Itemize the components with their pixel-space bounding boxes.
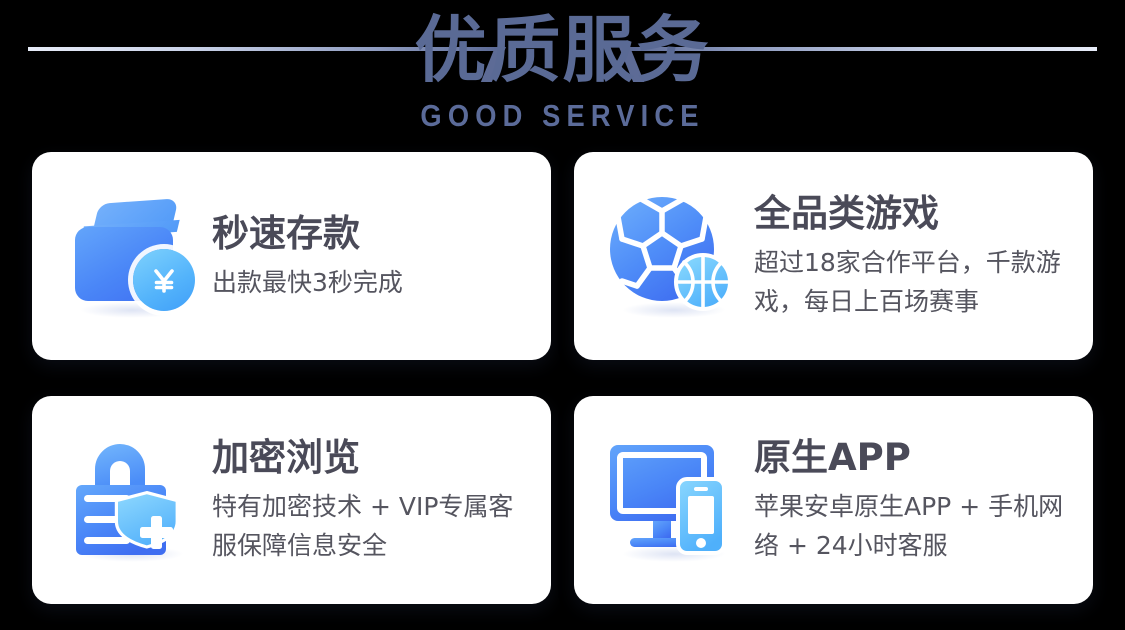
wallet-graphic (69, 197, 195, 315)
soccer-basketball-icon (600, 182, 748, 330)
card-title: 全品类游戏 (754, 191, 1079, 237)
lock-shield-icon (58, 426, 206, 574)
card-title: 原生APP (754, 435, 1079, 481)
card-text-block: 原生APP 苹果安卓原生APP + 手机网络 + 24小时客服 (748, 435, 1093, 565)
card-text-block: 秒速存款 出款最快3秒完成 (206, 211, 417, 302)
ball-graphic (608, 195, 740, 317)
lock-graphic (68, 437, 196, 563)
yen-coin-icon (133, 249, 195, 311)
page-header: 优质服务 GOOD SERVICE (0, 0, 1125, 148)
feature-card-deposit[interactable]: 秒速存款 出款最快3秒完成 (32, 152, 551, 360)
feature-card-games[interactable]: 全品类游戏 超过18家合作平台，千款游戏，每日上百场赛事 (574, 152, 1093, 360)
card-title: 秒速存款 (212, 211, 403, 257)
card-text-block: 全品类游戏 超过18家合作平台，千款游戏，每日上百场赛事 (748, 191, 1093, 321)
card-subtitle: 出款最快3秒完成 (212, 263, 403, 302)
monitor-phone-icon (600, 426, 748, 574)
page-subtitle: GOOD SERVICE (68, 98, 1058, 134)
feature-card-grid: 秒速存款 出款最快3秒完成 (32, 152, 1093, 604)
device-graphic (608, 441, 740, 559)
card-text-block: 加密浏览 特有加密技术 + VIP专属客服保障信息安全 (206, 435, 551, 565)
page-title: 优质服务 (0, 6, 1125, 94)
basketball-icon (674, 253, 732, 311)
card-subtitle: 特有加密技术 + VIP专属客服保障信息安全 (212, 487, 537, 565)
card-subtitle: 超过18家合作平台，千款游戏，每日上百场赛事 (754, 243, 1079, 321)
card-title: 加密浏览 (212, 435, 537, 481)
wallet-yen-icon (58, 182, 206, 330)
card-subtitle: 苹果安卓原生APP + 手机网络 + 24小时客服 (754, 487, 1079, 565)
feature-card-encryption[interactable]: 加密浏览 特有加密技术 + VIP专属客服保障信息安全 (32, 396, 551, 604)
feature-card-native-app[interactable]: 原生APP 苹果安卓原生APP + 手机网络 + 24小时客服 (574, 396, 1093, 604)
